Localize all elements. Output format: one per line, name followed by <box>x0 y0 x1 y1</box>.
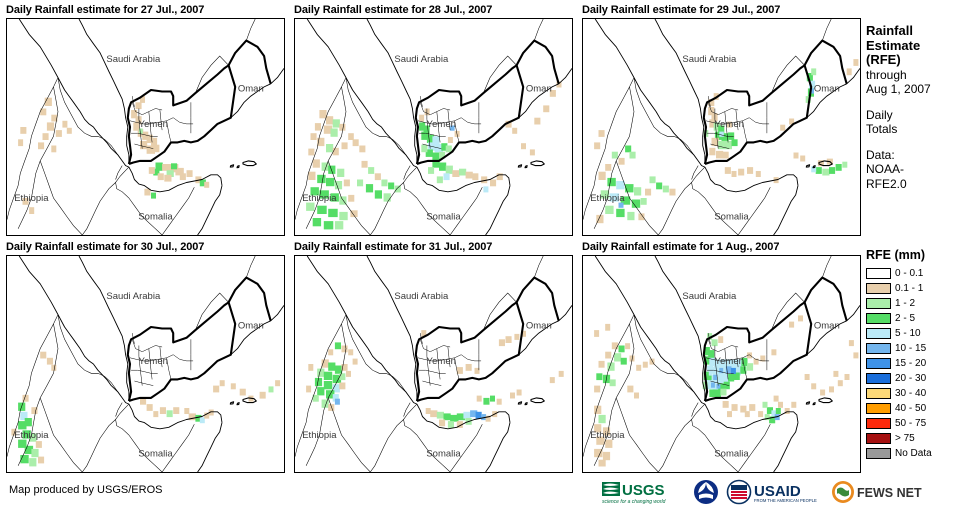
map-frame-3: Saudi ArabiaOmanYemenEthiopiaSomalia <box>582 18 861 236</box>
rfe-through-label: through <box>866 68 967 83</box>
svg-text:Oman: Oman <box>814 321 840 332</box>
legend-label: 30 - 40 <box>895 388 926 399</box>
legend-swatch <box>866 418 891 429</box>
usaid-logo: USAID FROM THE AMERICAN PEOPLE <box>726 479 824 505</box>
data-source-line-1: NOAA- <box>866 162 967 177</box>
legend-row: 40 - 50 <box>866 401 967 416</box>
legend-swatch <box>866 343 891 354</box>
legend-swatch <box>866 373 891 384</box>
svg-text:Yemen: Yemen <box>427 356 456 367</box>
legend-row: 20 - 30 <box>866 371 967 386</box>
legend-row: 50 - 75 <box>866 416 967 431</box>
rfe-through-date: Aug 1, 2007 <box>866 82 967 97</box>
svg-text:Ethiopia: Ethiopia <box>590 430 625 441</box>
rfe-title-line-1: Rainfall <box>866 24 967 39</box>
map-frame-5: Saudi ArabiaOmanYemenEthiopiaSomalia <box>294 255 573 473</box>
svg-text:Saudi Arabia: Saudi Arabia <box>394 291 449 302</box>
svg-text:Somalia: Somalia <box>138 212 173 223</box>
legend-label: > 75 <box>895 433 915 444</box>
svg-text:Yemen: Yemen <box>139 119 168 130</box>
legend-label: 10 - 15 <box>895 343 926 354</box>
totals-line-1: Daily <box>866 108 967 123</box>
legend-swatch <box>866 298 891 309</box>
map-frame-2: Saudi ArabiaOmanYemenEthiopiaSomalia <box>294 18 573 236</box>
data-source-line-2: RFE2.0 <box>866 177 967 192</box>
legend-swatch <box>866 313 891 324</box>
svg-text:Ethiopia: Ethiopia <box>302 193 337 204</box>
legend-label: 0.1 - 1 <box>895 283 923 294</box>
data-label: Data: <box>866 148 967 163</box>
svg-text:FROM THE AMERICAN PEOPLE: FROM THE AMERICAN PEOPLE <box>754 498 817 503</box>
rainfall-map-panel-3: Daily Rainfall estimate for 29 Jul., 200… <box>582 3 861 236</box>
svg-text:Ethiopia: Ethiopia <box>302 430 337 441</box>
legend-row: 10 - 15 <box>866 341 967 356</box>
svg-text:Yemen: Yemen <box>715 119 744 130</box>
svg-text:Yemen: Yemen <box>427 119 456 130</box>
svg-text:Oman: Oman <box>526 84 552 95</box>
rainfall-map-panel-1: Daily Rainfall estimate for 27 Jul., 200… <box>6 3 285 236</box>
svg-text:Saudi Arabia: Saudi Arabia <box>394 54 449 65</box>
legend-label: 20 - 30 <box>895 373 926 384</box>
logo-bar: USGS science for a changing world USAID … <box>600 478 923 506</box>
svg-text:Oman: Oman <box>238 321 264 332</box>
totals-line-2: Totals <box>866 122 967 137</box>
info-column: Rainfall Estimate (RFE) through Aug 1, 2… <box>866 24 967 191</box>
noaa-logo <box>693 479 719 505</box>
svg-text:science for a changing world: science for a changing world <box>602 499 666 505</box>
panel-title-6: Daily Rainfall estimate for 1 Aug., 2007 <box>582 240 861 255</box>
rainfall-map-panel-6: Daily Rainfall estimate for 1 Aug., 2007… <box>582 240 861 473</box>
panel-title-3: Daily Rainfall estimate for 29 Jul., 200… <box>582 3 861 18</box>
panel-title-5: Daily Rainfall estimate for 31 Jul., 200… <box>294 240 573 255</box>
svg-text:Ethiopia: Ethiopia <box>14 193 49 204</box>
legend-row: > 75 <box>866 431 967 446</box>
rainfall-map-panel-4: Daily Rainfall estimate for 30 Jul., 200… <box>6 240 285 473</box>
map-frame-6: Saudi ArabiaOmanYemenEthiopiaSomalia <box>582 255 861 473</box>
rfe-legend: RFE (mm) 0 - 0.10.1 - 11 - 22 - 55 - 101… <box>866 248 967 461</box>
svg-text:FEWS NET: FEWS NET <box>857 486 922 500</box>
usgs-logo: USGS science for a changing world <box>600 479 686 505</box>
rfe-title-line-2: Estimate <box>866 39 967 54</box>
legend-row: 2 - 5 <box>866 311 967 326</box>
legend-title: RFE (mm) <box>866 248 967 262</box>
legend-label: 2 - 5 <box>895 313 915 324</box>
svg-text:Saudi Arabia: Saudi Arabia <box>106 291 161 302</box>
map-frame-4: Saudi ArabiaOmanYemenEthiopiaSomalia <box>6 255 285 473</box>
svg-text:Somalia: Somalia <box>426 212 461 223</box>
legend-row: 0.1 - 1 <box>866 281 967 296</box>
panel-title-4: Daily Rainfall estimate for 30 Jul., 200… <box>6 240 285 255</box>
rainfall-map-panel-2: Daily Rainfall estimate for 28 Jul., 200… <box>294 3 573 236</box>
svg-text:Ethiopia: Ethiopia <box>14 430 49 441</box>
legend-swatch <box>866 448 891 459</box>
legend-swatch <box>866 358 891 369</box>
svg-text:Saudi Arabia: Saudi Arabia <box>682 54 737 65</box>
legend-label: 5 - 10 <box>895 328 921 339</box>
legend-row: 1 - 2 <box>866 296 967 311</box>
svg-text:Somalia: Somalia <box>138 449 173 460</box>
svg-text:Somalia: Somalia <box>426 449 461 460</box>
rfe-title-line-3: (RFE) <box>866 53 967 68</box>
legend-row: 30 - 40 <box>866 386 967 401</box>
legend-swatch <box>866 283 891 294</box>
svg-text:Oman: Oman <box>526 321 552 332</box>
svg-text:USGS: USGS <box>622 482 665 499</box>
fews-net-logo: FEWS NET <box>831 479 923 505</box>
legend-swatch <box>866 403 891 414</box>
svg-text:Somalia: Somalia <box>714 449 749 460</box>
legend-swatch <box>866 268 891 279</box>
svg-text:Somalia: Somalia <box>714 212 749 223</box>
legend-row: 5 - 10 <box>866 326 967 341</box>
panel-title-1: Daily Rainfall estimate for 27 Jul., 200… <box>6 3 285 18</box>
legend-label: 1 - 2 <box>895 298 915 309</box>
legend-row: 0 - 0.1 <box>866 266 967 281</box>
legend-label: 40 - 50 <box>895 403 926 414</box>
svg-text:Ethiopia: Ethiopia <box>590 193 625 204</box>
legend-swatch <box>866 433 891 444</box>
legend-row: 15 - 20 <box>866 356 967 371</box>
legend-label: 50 - 75 <box>895 418 926 429</box>
legend-label: 15 - 20 <box>895 358 926 369</box>
svg-text:Oman: Oman <box>814 84 840 95</box>
svg-text:Yemen: Yemen <box>715 356 744 367</box>
panel-title-2: Daily Rainfall estimate for 28 Jul., 200… <box>294 3 573 18</box>
map-credit: Map produced by USGS/EROS <box>9 484 162 496</box>
svg-text:Saudi Arabia: Saudi Arabia <box>682 291 737 302</box>
svg-text:Oman: Oman <box>238 84 264 95</box>
legend-row: No Data <box>866 446 967 461</box>
legend-swatch <box>866 328 891 339</box>
svg-text:Yemen: Yemen <box>139 356 168 367</box>
svg-text:Saudi Arabia: Saudi Arabia <box>106 54 161 65</box>
legend-label: 0 - 0.1 <box>895 268 923 279</box>
legend-label: No Data <box>895 448 932 459</box>
map-frame-1: Saudi ArabiaOmanYemenEthiopiaSomalia <box>6 18 285 236</box>
legend-swatch <box>866 388 891 399</box>
rainfall-map-panel-5: Daily Rainfall estimate for 31 Jul., 200… <box>294 240 573 473</box>
